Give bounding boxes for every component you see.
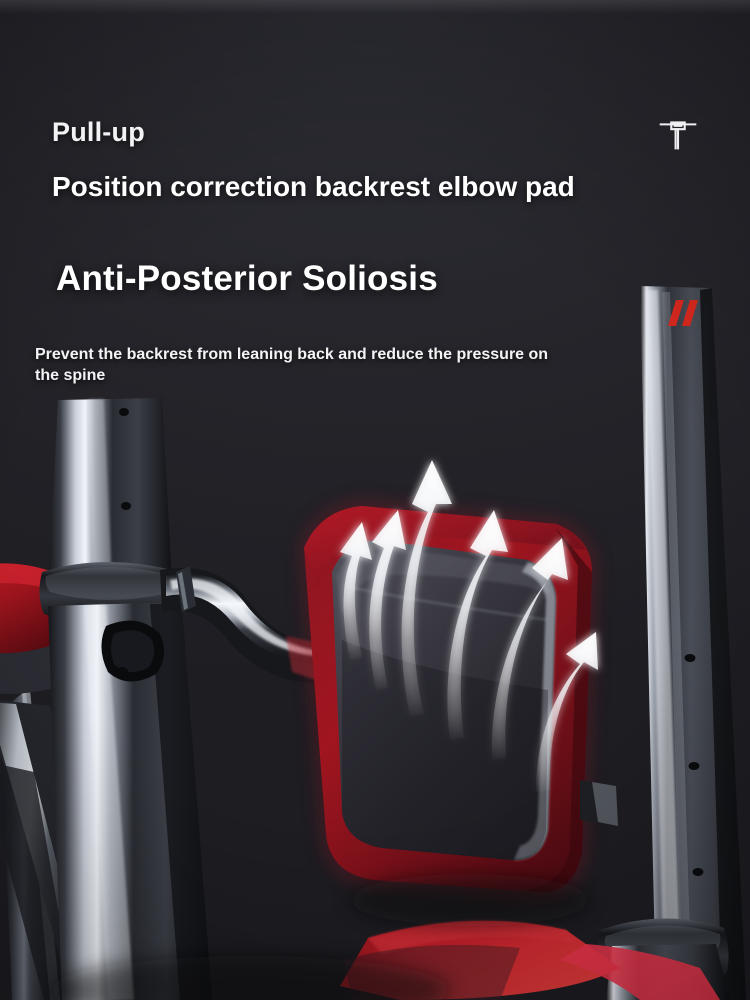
adjustment-hole <box>119 408 129 416</box>
cam-lock-knob <box>101 621 164 682</box>
product-illustration <box>0 0 750 1000</box>
adjustment-hole <box>685 654 696 662</box>
left-upright-post <box>39 398 212 1000</box>
adjustment-hole <box>693 868 704 876</box>
right-upright-post <box>597 286 746 1000</box>
adjustment-hole <box>121 502 131 510</box>
adjustment-hole <box>689 762 700 770</box>
product-feature-banner: Pull-up Position correction backrest elb… <box>0 0 750 1000</box>
